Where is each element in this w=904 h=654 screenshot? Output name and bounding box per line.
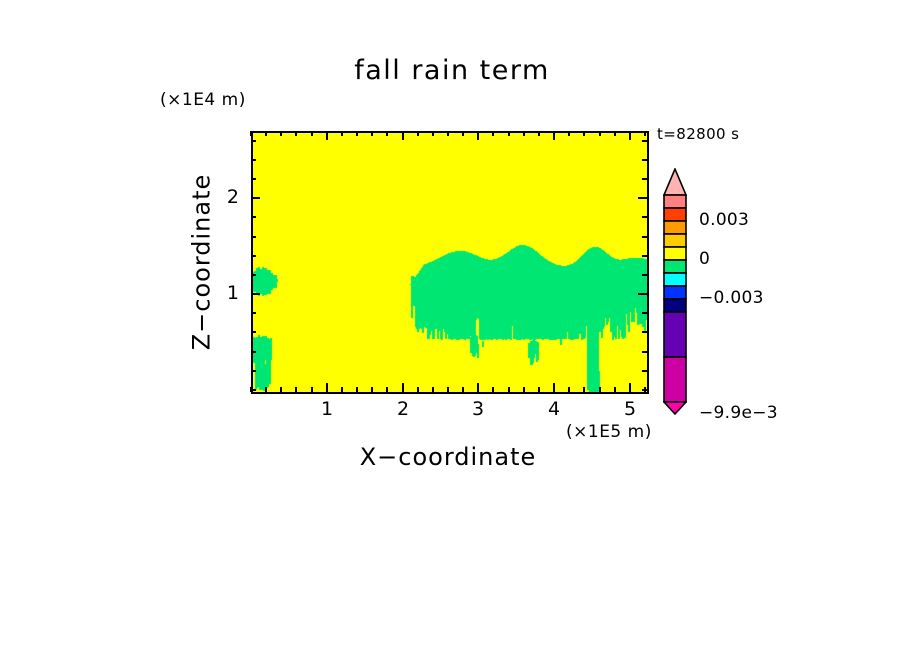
colorbar-svg	[663, 168, 687, 415]
y-minor-tick	[251, 159, 256, 161]
colorbar-tick-label: 0.003	[699, 210, 749, 230]
colorbar-band	[664, 169, 686, 195]
y-minor-tick-right	[642, 178, 647, 180]
colorbar-tick-label: 0	[699, 249, 710, 269]
x-minor-tick	[280, 387, 282, 392]
x-minor-tick	[417, 387, 419, 392]
colorbar-tick-label: −9.9e−3	[699, 403, 778, 423]
y-axis-unit-label: (×1E4 m)	[160, 90, 246, 110]
colorbar-band	[664, 286, 686, 299]
y-minor-tick-right	[642, 236, 647, 238]
y-minor-tick-right	[642, 140, 647, 142]
timestamp-label: t=82800 s	[657, 125, 739, 143]
x-tick-label: 4	[542, 398, 566, 420]
y-minor-tick-right	[642, 216, 647, 218]
y-minor-tick	[251, 370, 256, 372]
y-axis-title-text: Z−coordinate	[187, 174, 215, 351]
x-minor-tick	[295, 387, 297, 392]
x-minor-tick-top	[447, 131, 449, 136]
x-minor-tick	[523, 387, 525, 392]
x-minor-tick	[356, 387, 358, 392]
colorbar-band	[664, 312, 686, 357]
y-minor-tick-right	[642, 159, 647, 161]
colorbar-band	[664, 234, 686, 247]
x-tick-label: 1	[315, 398, 339, 420]
x-minor-tick	[341, 387, 343, 392]
y-minor-tick-right	[642, 370, 647, 372]
y-minor-tick	[251, 389, 256, 391]
x-major-tick	[629, 383, 631, 392]
x-minor-tick-top	[417, 131, 419, 136]
x-minor-tick-top	[568, 131, 570, 136]
x-minor-tick-top	[311, 131, 313, 136]
x-major-tick-top	[326, 131, 328, 140]
x-major-tick-top	[402, 131, 404, 140]
page-title: fall rain term	[0, 55, 904, 86]
x-minor-tick-top	[492, 131, 494, 136]
colorbar	[663, 168, 687, 419]
colorbar-band	[664, 208, 686, 221]
colorbar-band	[664, 273, 686, 286]
x-minor-tick-top	[356, 131, 358, 136]
x-axis-title: X−coordinate	[251, 443, 645, 471]
y-major-tick-right	[638, 197, 647, 199]
colorbar-band	[664, 260, 686, 273]
colorbar-band	[664, 299, 686, 312]
x-minor-tick	[599, 387, 601, 392]
x-minor-tick-top	[265, 131, 267, 136]
contour-field	[253, 133, 647, 392]
x-minor-tick	[538, 387, 540, 392]
y-major-tick	[251, 197, 260, 199]
x-minor-tick-top	[644, 131, 646, 136]
contour-plot-area	[251, 131, 649, 394]
x-minor-tick	[568, 387, 570, 392]
colorbar-band	[664, 357, 686, 402]
x-minor-tick-top	[295, 131, 297, 136]
x-minor-tick-top	[599, 131, 601, 136]
y-minor-tick	[251, 331, 256, 333]
x-tick-label: 2	[391, 398, 415, 420]
x-minor-tick-top	[280, 131, 282, 136]
x-minor-tick-top	[523, 131, 525, 136]
y-minor-tick	[251, 236, 256, 238]
x-minor-tick-top	[341, 131, 343, 136]
x-minor-tick-top	[386, 131, 388, 136]
y-minor-tick-right	[642, 312, 647, 314]
x-minor-tick	[614, 387, 616, 392]
colorbar-band	[664, 402, 686, 414]
y-axis-title: Z−coordinate	[183, 152, 219, 372]
x-axis-unit-label: (×1E5 m)	[566, 422, 652, 442]
y-minor-tick-right	[642, 351, 647, 353]
x-major-tick-top	[629, 131, 631, 140]
y-tick-label: 2	[219, 186, 239, 208]
x-major-tick	[402, 383, 404, 392]
x-minor-tick-top	[538, 131, 540, 136]
y-minor-tick	[251, 255, 256, 257]
x-minor-tick	[311, 387, 313, 392]
y-minor-tick	[251, 312, 256, 314]
x-minor-tick	[371, 387, 373, 392]
x-minor-tick-top	[250, 131, 252, 136]
x-minor-tick	[432, 387, 434, 392]
x-tick-label: 3	[466, 398, 490, 420]
colorbar-tick-label: −0.003	[699, 288, 764, 308]
y-minor-tick-right	[642, 389, 647, 391]
x-major-tick	[477, 383, 479, 392]
y-minor-tick	[251, 351, 256, 353]
colorbar-band	[664, 247, 686, 260]
x-minor-tick	[492, 387, 494, 392]
colorbar-band	[664, 195, 686, 208]
y-minor-tick	[251, 178, 256, 180]
x-minor-tick	[508, 387, 510, 392]
y-major-tick-right	[638, 293, 647, 295]
x-minor-tick-top	[462, 131, 464, 136]
x-minor-tick	[447, 387, 449, 392]
x-tick-label: 5	[618, 398, 642, 420]
x-minor-tick-top	[583, 131, 585, 136]
x-major-tick-top	[477, 131, 479, 140]
x-major-tick	[553, 383, 555, 392]
y-tick-label: 1	[219, 282, 239, 304]
y-minor-tick-right	[642, 255, 647, 257]
x-minor-tick	[265, 387, 267, 392]
x-minor-tick	[462, 387, 464, 392]
y-minor-tick	[251, 274, 256, 276]
y-minor-tick-right	[642, 331, 647, 333]
figure-canvas: fall rain term (×1E4 m) (×1E5 m) t=82800…	[0, 0, 904, 654]
y-minor-tick	[251, 140, 256, 142]
x-minor-tick-top	[614, 131, 616, 136]
colorbar-band	[664, 221, 686, 234]
x-minor-tick-top	[508, 131, 510, 136]
x-major-tick-top	[553, 131, 555, 140]
y-minor-tick-right	[642, 274, 647, 276]
x-minor-tick-top	[432, 131, 434, 136]
x-minor-tick	[583, 387, 585, 392]
x-minor-tick-top	[371, 131, 373, 136]
y-minor-tick	[251, 216, 256, 218]
x-major-tick	[326, 383, 328, 392]
y-major-tick	[251, 293, 260, 295]
x-minor-tick	[386, 387, 388, 392]
